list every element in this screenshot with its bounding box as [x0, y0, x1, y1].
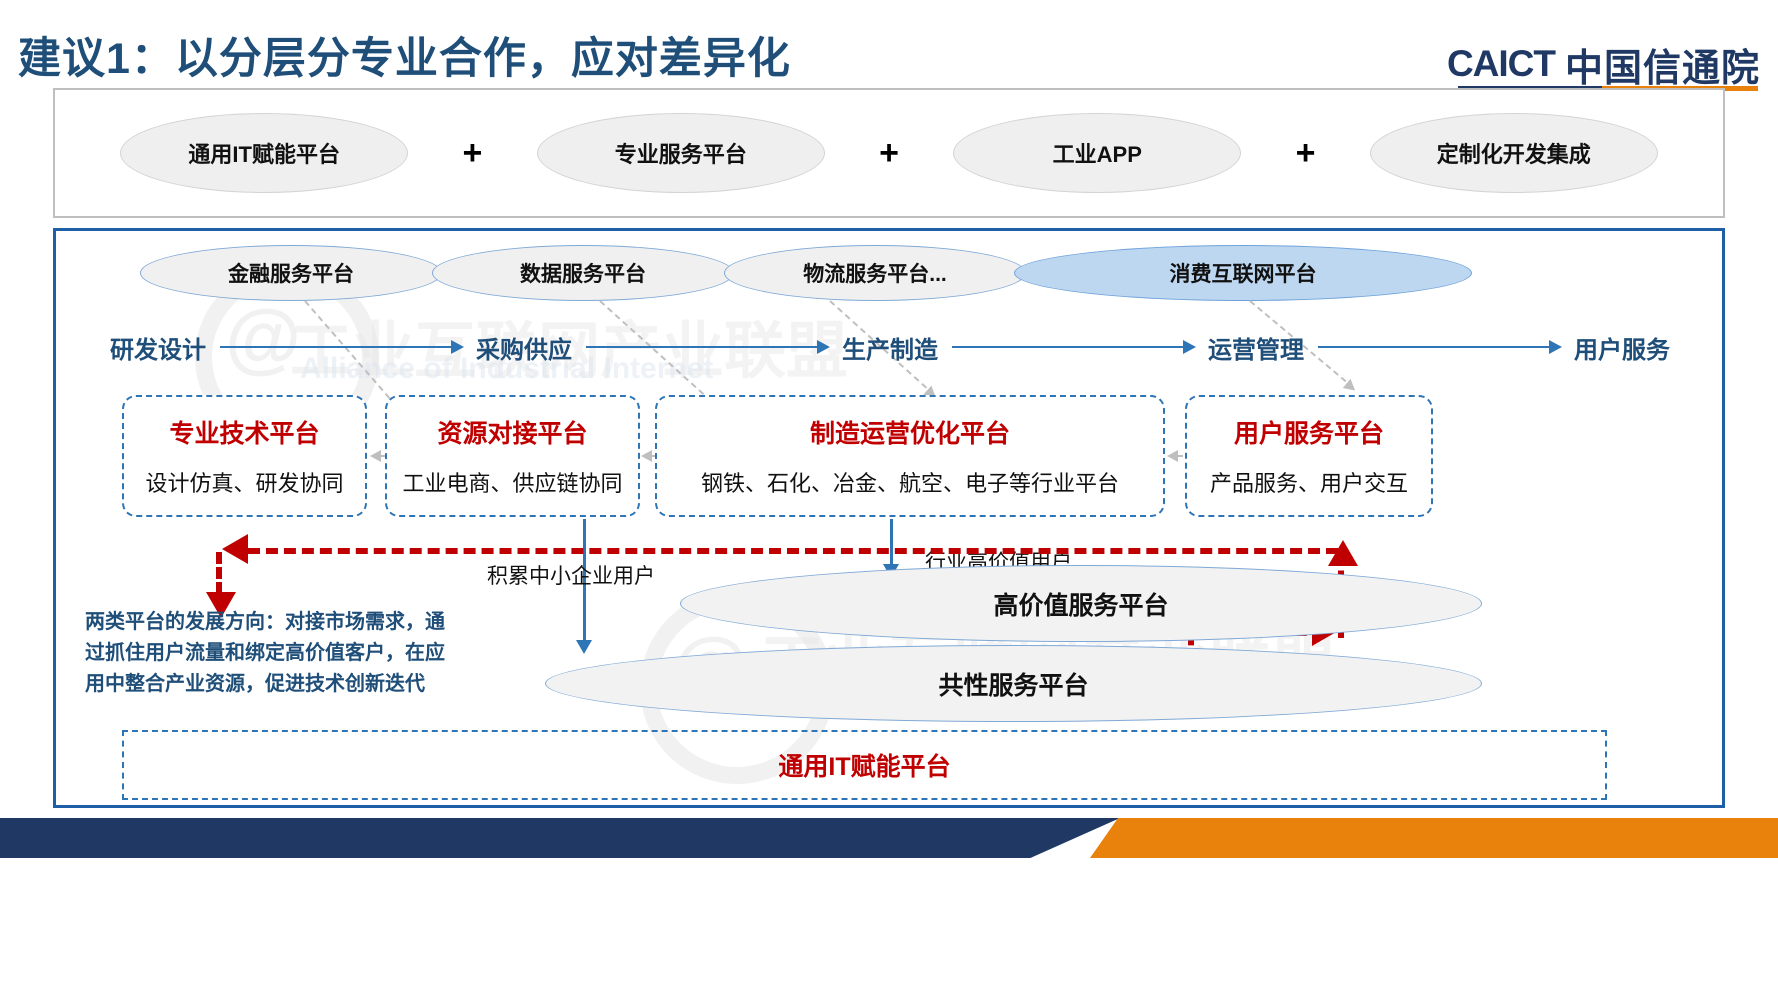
service-platform-ellipse-2[interactable]: 物流服务平台... [724, 245, 1026, 301]
platform-box-resource-matching[interactable]: 资源对接平台 工业电商、供应链协同 [385, 395, 640, 517]
service-platform-ellipse-0[interactable]: 金融服务平台 [140, 245, 442, 301]
service-platform-ellipse-1[interactable]: 数据服务平台 [432, 245, 734, 301]
red-arrowhead-up [1328, 540, 1358, 566]
process-node-4: 用户服务 [1574, 330, 1670, 365]
service-platform-ellipse-3[interactable]: 消费互联网平台 [1014, 245, 1472, 301]
platform-box-subtitle-2: 钢铁、石化、冶金、航空、电子等行业平台 [701, 466, 1119, 498]
title-bar: 建议1：以分层分专业合作，应对差异化 CAICT 中国信通院 [0, 0, 1778, 96]
composition-item-3: 定制化开发集成 [1370, 113, 1658, 193]
label-sme-users: 积累中小企业用户 [487, 560, 655, 590]
composition-item-0: 通用IT赋能平台 [120, 113, 408, 193]
note-line-0: 两类平台的发展方向：对接市场需求，通 [85, 607, 540, 638]
note-line-2: 用中整合产业资源，促进技术创新迭代 [85, 669, 540, 700]
note-line-1: 过抓住用户流量和绑定高价值客户，在应 [85, 638, 540, 669]
blue-arrow-high-value [890, 519, 893, 565]
process-arrow-0 [220, 346, 462, 348]
composition-box: 通用IT赋能平台 + 专业服务平台 + 工业APP + 定制化开发集成 [53, 88, 1725, 218]
bottom-bar-navy-segment [0, 818, 1120, 858]
process-chain: 研发设计 采购供应 生产制造 运营管理 用户服务 [110, 330, 1670, 364]
red-arrowhead-left [222, 534, 248, 564]
main-diagram-box [53, 228, 1725, 808]
plus-sign-0: + [463, 134, 483, 173]
process-node-2: 生产制造 [842, 330, 938, 365]
high-value-service-platform-ellipse[interactable]: 高价值服务平台 [680, 565, 1482, 642]
plus-sign-2: + [1296, 134, 1316, 173]
bottom-decorative-bar [0, 818, 1778, 858]
platform-box-title-1: 资源对接平台 [437, 414, 587, 450]
process-arrow-3 [1318, 346, 1560, 348]
composition-item-2: 工业APP [953, 113, 1241, 193]
platform-box-manufacturing-ops[interactable]: 制造运营优化平台 钢铁、石化、冶金、航空、电子等行业平台 [655, 395, 1165, 517]
logo-latin-text: CAICT [1447, 43, 1555, 85]
platform-box-title-0: 专业技术平台 [169, 414, 319, 450]
platform-box-title-2: 制造运营优化平台 [810, 414, 1010, 450]
platform-box-title-3: 用户服务平台 [1234, 414, 1384, 450]
process-arrow-2 [952, 346, 1194, 348]
platform-box-subtitle-3: 产品服务、用户交互 [1210, 466, 1408, 498]
red-dashed-line-top [248, 548, 1338, 554]
plus-sign-1: + [879, 134, 899, 173]
platform-box-user-service[interactable]: 用户服务平台 产品服务、用户交互 [1185, 395, 1433, 517]
platform-box-professional-tech[interactable]: 专业技术平台 设计仿真、研发协同 [122, 395, 367, 517]
caict-logo: CAICT 中国信通院 [1447, 38, 1760, 90]
bottom-bar-orange-segment [1090, 818, 1778, 858]
common-service-platform-ellipse[interactable]: 共性服务平台 [545, 645, 1482, 722]
red-dashed-line-down [216, 552, 222, 594]
development-direction-note: 两类平台的发展方向：对接市场需求，通 过抓住用户流量和绑定高价值客户，在应 用中… [85, 607, 540, 700]
logo-chinese-text: 中国信通院 [1565, 37, 1760, 92]
page-title: 建议1：以分层分专业合作，应对差异化 [18, 24, 791, 86]
process-node-0: 研发设计 [110, 330, 206, 365]
composition-item-1: 专业服务平台 [537, 113, 825, 193]
process-node-3: 运营管理 [1208, 330, 1304, 365]
general-it-enablement-box[interactable]: 通用IT赋能平台 [122, 730, 1607, 800]
process-node-1: 采购供应 [476, 330, 572, 365]
platform-box-subtitle-0: 设计仿真、研发协同 [145, 466, 343, 498]
composition-row: 通用IT赋能平台 + 专业服务平台 + 工业APP + 定制化开发集成 [55, 90, 1723, 216]
platform-box-subtitle-1: 工业电商、供应链协同 [402, 466, 622, 498]
process-arrow-1 [586, 346, 828, 348]
